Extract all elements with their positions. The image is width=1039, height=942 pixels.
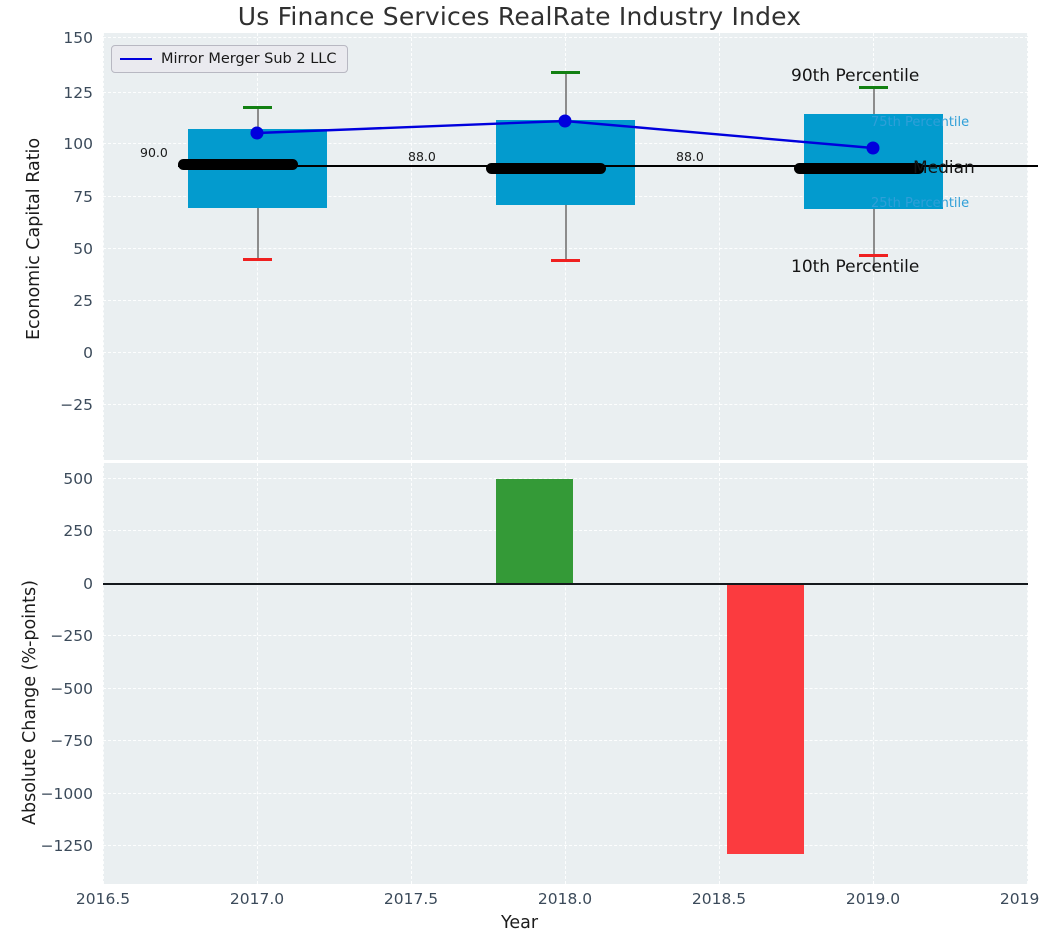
gridline-v-2019-0-bot bbox=[873, 463, 874, 884]
ytick-top-150: 150 bbox=[25, 29, 93, 47]
ytick-bot-neg500: −500 bbox=[5, 680, 93, 698]
economic-capital-ratio-panel: 90.0 88.0 88.0 Mirror Merger Sub 2 LLC 9… bbox=[103, 33, 1028, 460]
gridline-v-2019-5-bot bbox=[1027, 463, 1028, 884]
chart-title: Us Finance Services RealRate Industry In… bbox=[0, 2, 1039, 31]
ytick-bot-neg1000: −1000 bbox=[0, 785, 93, 803]
series-line-mirror-merger-sub-2-llc bbox=[103, 33, 1028, 460]
gridline-v-2017-5-bot bbox=[411, 463, 412, 884]
bar-2019-negative bbox=[727, 583, 804, 854]
chart-root: Us Finance Services RealRate Industry In… bbox=[0, 0, 1039, 942]
ytick-bot-500: 500 bbox=[25, 470, 93, 488]
ytick-bot-neg250: −250 bbox=[5, 627, 93, 645]
zero-baseline bbox=[103, 583, 1028, 585]
ytick-top-0: 0 bbox=[25, 344, 93, 362]
legend[interactable]: Mirror Merger Sub 2 LLC bbox=[111, 45, 348, 73]
annotation-90th-percentile: 90th Percentile bbox=[791, 66, 919, 86]
ytick-bot-neg1250: −1250 bbox=[0, 837, 93, 855]
gridline-v-2016-5-bot bbox=[103, 463, 104, 884]
xtick-2019-0: 2019.0 bbox=[818, 890, 928, 908]
bar-2018-positive bbox=[496, 479, 573, 583]
absolute-change-panel bbox=[103, 463, 1028, 884]
xtick-2018-0: 2018.0 bbox=[510, 890, 620, 908]
annotation-median: Median bbox=[913, 158, 975, 178]
ytick-top-125: 125 bbox=[25, 84, 93, 102]
xtick-2018-5: 2018.5 bbox=[664, 890, 774, 908]
annotation-10th-percentile: 10th Percentile bbox=[791, 257, 919, 277]
ytick-bot-neg750: −750 bbox=[5, 732, 93, 750]
annotation-25th-percentile: 25th Percentile bbox=[871, 196, 969, 211]
xlabel-year: Year bbox=[0, 913, 1039, 933]
annotation-75th-percentile: 75th Percentile bbox=[871, 115, 969, 130]
gridline-v-2017-0-bot bbox=[257, 463, 258, 884]
ytick-bot-250: 250 bbox=[15, 522, 93, 540]
xtick-2017-5: 2017.5 bbox=[356, 890, 466, 908]
ytick-top-neg25: −25 bbox=[25, 396, 93, 414]
xtick-2016-5: 2016.5 bbox=[48, 890, 158, 908]
ylabel-economic-capital-ratio: Economic Capital Ratio bbox=[24, 138, 44, 340]
legend-label-mirror-merger-sub-2-llc: Mirror Merger Sub 2 LLC bbox=[161, 51, 337, 67]
legend-line-swatch bbox=[120, 58, 152, 60]
xtick-2019-5: 2019.5 bbox=[972, 890, 1039, 908]
xtick-2017-0: 2017.0 bbox=[202, 890, 312, 908]
ylabel-absolute-change: Absolute Change (%-points) bbox=[20, 580, 40, 825]
gridline-v-2018-5-bot bbox=[719, 463, 720, 884]
